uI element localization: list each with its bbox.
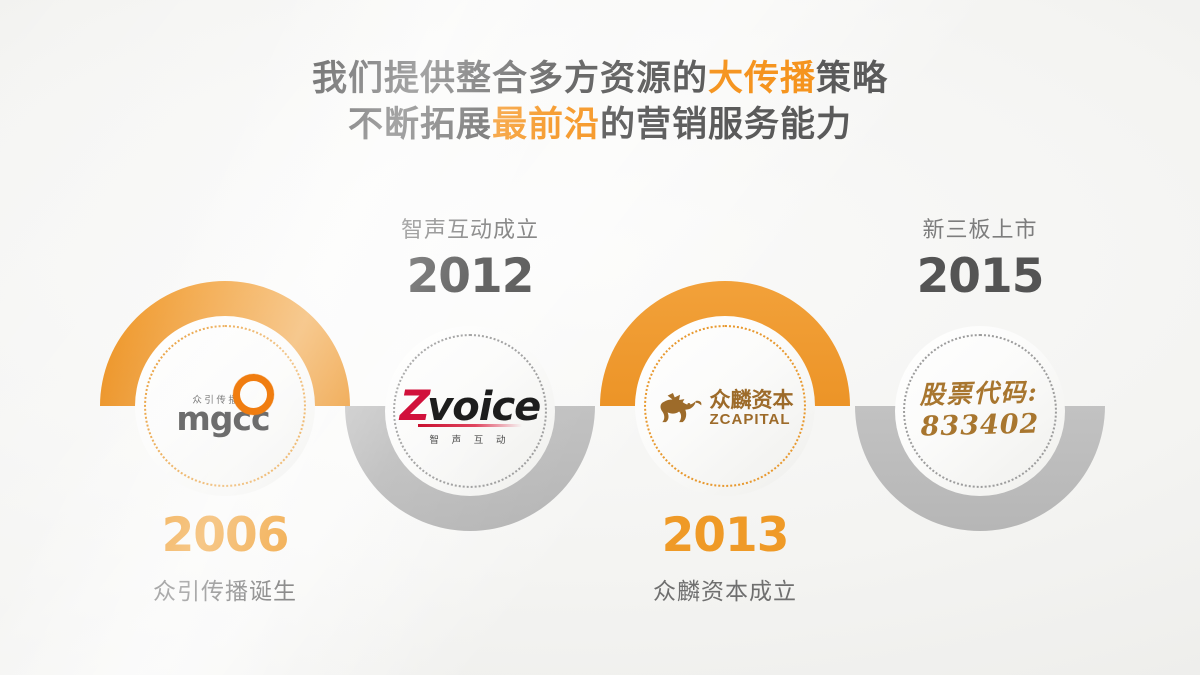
- stock-code-text: 股票代码: 833402: [920, 378, 1041, 445]
- title-line-1-pre: 我们提供整合多方资源的: [312, 59, 708, 98]
- logo-zvoice: Z voice 智 声 互 动: [400, 381, 541, 446]
- logo-mgcc: 众引传播 mgcc: [176, 392, 269, 432]
- logo-zcapital-cn: 众麟资本: [710, 390, 794, 411]
- slide-canvas: 我们提供整合多方资源的大传播策略 不断拓展最前沿的营销服务能力 众引传播 mgc…: [0, 0, 1200, 675]
- title-line-1-highlight: 大传播: [708, 59, 816, 98]
- title-line-1: 我们提供整合多方资源的大传播策略: [0, 56, 1200, 102]
- title-line-2-highlight: 最前沿: [492, 105, 600, 144]
- title-line-2-pre: 不断拓展: [348, 105, 492, 144]
- slide-title: 我们提供整合多方资源的大传播策略 不断拓展最前沿的营销服务能力: [0, 56, 1200, 148]
- timeline-node-2015[interactable]: 股票代码: 833402: [895, 326, 1065, 496]
- timeline-caption-2006: 众引传播诞生: [105, 577, 345, 606]
- timeline-year-2015: 2015: [865, 253, 1095, 301]
- ring-icon: [233, 374, 274, 415]
- timeline-year-2006: 2006: [105, 512, 345, 560]
- logo-zvoice-z: Z: [400, 381, 427, 430]
- timeline-caption-2015: 新三板上市: [865, 216, 1095, 244]
- timeline-node-2006[interactable]: 众引传播 mgcc: [135, 316, 315, 496]
- timeline-label-2013: 2013 众麟资本成立: [605, 512, 845, 606]
- timeline-node-2013[interactable]: 众麟资本 ZCAPITAL: [635, 316, 815, 496]
- logo-zcapital: 众麟资本 ZCAPITAL: [657, 390, 794, 427]
- stock-code-label: 股票代码:: [920, 378, 1040, 412]
- timeline-node-2012[interactable]: Z voice 智 声 互 动: [385, 326, 555, 496]
- logo-zvoice-underline: [418, 424, 522, 427]
- timeline-label-2015: 新三板上市 2015: [865, 216, 1095, 300]
- logo-zcapital-en: ZCAPITAL: [710, 412, 791, 427]
- timeline-caption-2012: 智声互动成立: [355, 216, 585, 244]
- stock-code-number: 833402: [920, 408, 1040, 444]
- title-line-2: 不断拓展最前沿的营销服务能力: [0, 102, 1200, 148]
- logo-zvoice-cn: 智 声 互 动: [430, 432, 511, 446]
- timeline-caption-2013: 众麟资本成立: [605, 577, 845, 606]
- title-line-1-post: 策略: [816, 59, 888, 98]
- timeline-label-2006: 2006 众引传播诞生: [105, 512, 345, 606]
- qilin-icon: [657, 391, 703, 425]
- timeline-label-2012: 智声互动成立 2012: [355, 216, 585, 300]
- timeline-year-2013: 2013: [605, 512, 845, 560]
- title-line-2-post: 的营销服务能力: [600, 105, 852, 144]
- timeline-year-2012: 2012: [355, 253, 585, 301]
